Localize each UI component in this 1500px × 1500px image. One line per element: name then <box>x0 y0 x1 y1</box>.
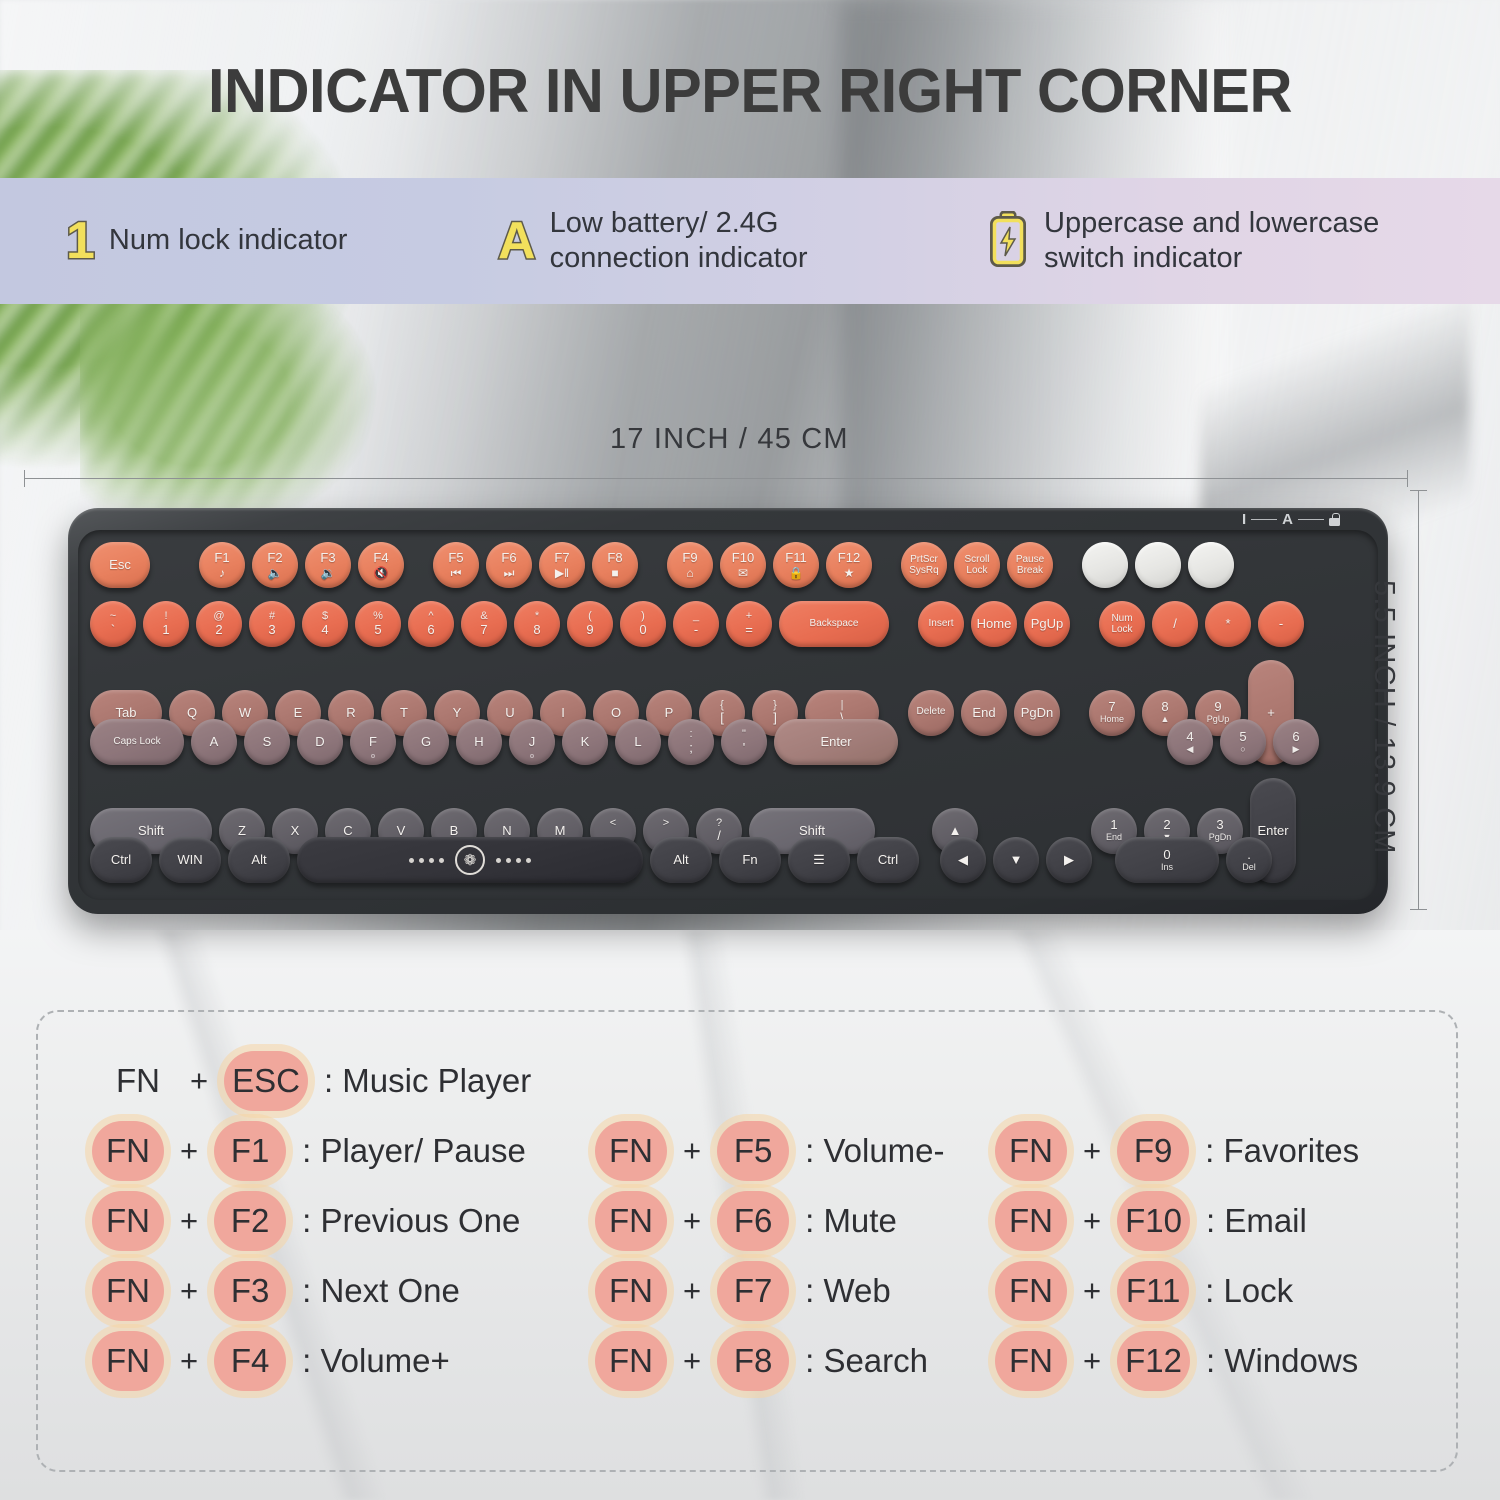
menu-icon[interactable]: ☰ <box>788 837 850 883</box>
indicator-label-caps-line2: switch indicator <box>1044 242 1242 274</box>
battery-bolt-icon <box>988 211 1028 272</box>
numeral-one-glyph: 1 <box>66 215 95 267</box>
keyboard-row-home: Caps LockASDFGHJKL:;"'Enter4◀5○6▶ <box>90 719 1326 765</box>
fn-shortcut-row: FN+F9: Favorites <box>993 1116 1413 1186</box>
spacebar-dots-left <box>409 858 444 863</box>
shortcut-key-badge: F2 <box>214 1191 286 1251</box>
key-label: F1 <box>214 551 229 565</box>
key-ctrl[interactable]: Ctrl <box>857 837 919 883</box>
key-label: ScrollLock <box>964 554 989 576</box>
fn-shortcut-row: FN+F6: Mute <box>593 1186 993 1256</box>
key-f7[interactable]: F7▶‖ <box>539 542 585 588</box>
key-label: 4 <box>1186 730 1193 744</box>
key-label: 0 <box>1163 848 1170 862</box>
indicator-item-battery: A Low battery/ 2.4G connection indicator <box>498 206 978 277</box>
key-function-icon: ■ <box>611 567 618 579</box>
key-label: Alt <box>251 853 266 867</box>
key-label: F4 <box>373 551 388 565</box>
key-label: V <box>397 824 406 838</box>
key-[interactable]: ▶ <box>1046 837 1092 883</box>
dimension-width-label: 17 INCH / 45 CM <box>610 423 849 456</box>
shortcut-description: : Player/ Pause <box>302 1132 526 1170</box>
plus-sign: + <box>180 1203 198 1239</box>
key-label: WIN <box>177 853 202 867</box>
plus-sign: + <box>180 1273 198 1309</box>
fn-key-badge: FN <box>92 1261 164 1321</box>
indicator-label-caps-line1: Uppercase and lowercase <box>1044 207 1379 239</box>
fn-shortcut-legend-panel: FN + ESC : Music Player FN+F1: Player/ P… <box>36 1010 1458 1472</box>
fn-shortcut-row: FN+F2: Previous One <box>90 1186 593 1256</box>
key-[interactable]: += <box>726 601 772 647</box>
shortcut-key-badge: F7 <box>717 1261 789 1321</box>
key-label: B <box>450 824 459 838</box>
key-pause[interactable]: PauseBreak <box>1007 542 1053 588</box>
key-label: 1 <box>162 623 169 637</box>
key-shift-legend: $ <box>322 611 328 623</box>
key-label: W <box>239 706 251 720</box>
key-shift-legend: # <box>269 611 275 623</box>
key-[interactable]: "' <box>721 719 767 765</box>
key-shift-legend: : <box>689 729 692 741</box>
key-f9[interactable]: F9⌂ <box>667 542 713 588</box>
key-label: PgDn <box>1021 706 1054 720</box>
plus-sign: + <box>190 1063 208 1099</box>
key-a[interactable]: A <box>191 719 237 765</box>
key-spacebar[interactable]: ❁ <box>297 837 643 883</box>
key-g[interactable]: G <box>403 719 449 765</box>
keyboard-row-modifiers: CtrlWINAlt❁AltFn☰Ctrl◀▼▶0Ins.Del <box>90 837 1279 883</box>
key-label: Shift <box>138 824 164 838</box>
key-label: N <box>502 824 511 838</box>
fn-key-badge: FN <box>92 1191 164 1251</box>
fn-key-badge: FN <box>595 1121 667 1181</box>
shortcut-description: : Email <box>1206 1202 1307 1240</box>
fn-key-badge: FN <box>102 1051 174 1111</box>
shortcut-key-badge: F12 <box>1117 1331 1190 1391</box>
key-4[interactable]: $4 <box>302 601 348 647</box>
key-function-icon: ✉ <box>738 567 748 579</box>
key-function-icon: 🔇 <box>374 567 389 579</box>
key-d[interactable]: D <box>297 719 343 765</box>
key-label: ☰ <box>813 853 825 867</box>
letter-a-glyph: A <box>498 215 536 267</box>
key-label: Home <box>977 617 1012 631</box>
fn-shortcut-row-esc: FN + ESC : Music Player <box>100 1046 531 1116</box>
shortcut-key-badge: F1 <box>214 1121 286 1181</box>
key-shift-legend: | <box>841 700 844 712</box>
key-h[interactable]: H <box>456 719 502 765</box>
key-label: E <box>294 706 303 720</box>
key-label: PgUp <box>1031 617 1064 631</box>
key-[interactable]: ▼ <box>993 837 1039 883</box>
key-shift-legend: + <box>746 611 752 623</box>
indicator-item-caps: Uppercase and lowercase switch indicator <box>988 206 1379 277</box>
key-5[interactable]: 5○ <box>1220 719 1266 765</box>
key-shift-legend: ~ <box>110 611 116 623</box>
key-label: X <box>291 824 300 838</box>
key-label: F7 <box>554 551 569 565</box>
key-[interactable]: / <box>1152 601 1198 647</box>
key-label: Shift <box>799 824 825 838</box>
key-7[interactable]: &7 <box>461 601 507 647</box>
led-mark-numlock: I <box>1242 512 1246 527</box>
key-label: ▼ <box>1010 853 1023 867</box>
key-scroll[interactable]: ScrollLock <box>954 542 1000 588</box>
key-f8[interactable]: F8■ <box>592 542 638 588</box>
key-shift-legend: * <box>535 611 539 623</box>
plus-sign: + <box>683 1273 701 1309</box>
fn-shortcut-row: FN+F8: Search <box>593 1326 993 1396</box>
fn-key-badge: FN <box>92 1121 164 1181</box>
key-label: Delete <box>917 707 946 718</box>
key-f3[interactable]: F3🔉 <box>305 542 351 588</box>
key-label: + <box>1267 706 1275 720</box>
spacebar-dots-right <box>496 858 531 863</box>
key-label: O <box>611 706 621 720</box>
key-2[interactable]: @2 <box>196 601 242 647</box>
key-label: 2 <box>1163 818 1170 832</box>
key-shift-legend: " <box>742 729 746 741</box>
key-label: 6 <box>427 623 434 637</box>
key-label: 2 <box>215 623 222 637</box>
key-label: 5 <box>1239 730 1246 744</box>
led-mark-connection: A <box>1282 512 1293 527</box>
key-secondary-label: Ins <box>1161 863 1173 872</box>
key-label: T <box>400 706 408 720</box>
key-f12[interactable]: F12★ <box>826 542 872 588</box>
key-label: - <box>1279 617 1283 631</box>
key-backspace[interactable]: Backspace <box>779 601 889 647</box>
key-pgup[interactable]: PgUp <box>1024 601 1070 647</box>
key-label: Enter <box>820 735 851 749</box>
key-[interactable]: .Del <box>1226 837 1272 883</box>
plus-sign: + <box>1083 1343 1101 1379</box>
key-label: Backspace <box>810 619 859 630</box>
brand-logo-icon: ❁ <box>455 845 485 875</box>
key-function-icon: ★ <box>844 567 855 579</box>
fn-shortcut-row: FN+F7: Web <box>593 1256 993 1326</box>
key-label: I <box>561 706 565 720</box>
key-0[interactable]: )0 <box>620 601 666 647</box>
key-label: J <box>529 735 536 749</box>
page-title: INDICATOR IN UPPER RIGHT CORNER <box>30 56 1470 127</box>
key-6[interactable]: ^6 <box>408 601 454 647</box>
key-shift-legend: } <box>773 700 777 712</box>
key-secondary-label: ○ <box>1240 745 1245 754</box>
key-k[interactable]: K <box>562 719 608 765</box>
shortcut-description: : Lock <box>1205 1272 1293 1310</box>
shortcut-description: : Music Player <box>324 1062 531 1100</box>
key-shift-legend: ) <box>641 611 645 623</box>
key-l[interactable]: L <box>615 719 661 765</box>
key-[interactable]: :; <box>668 719 714 765</box>
key-function-icon: ♪ <box>219 567 225 579</box>
shortcut-key-badge: F9 <box>1117 1121 1189 1181</box>
shortcut-key-badge: F8 <box>717 1331 789 1391</box>
key-[interactable]: - <box>1258 601 1304 647</box>
fn-key-badge: FN <box>995 1191 1067 1251</box>
key-label: 4 <box>321 623 328 637</box>
key-label: Q <box>187 706 197 720</box>
key-label: F11 <box>785 551 806 565</box>
key-shift-legend: ! <box>164 611 167 623</box>
key-label: M <box>555 824 566 838</box>
shortcut-description: : Windows <box>1206 1342 1358 1380</box>
key-f6[interactable]: F6⏭ <box>486 542 532 588</box>
key-label: F10 <box>732 551 754 565</box>
key-j[interactable]: J <box>509 719 555 765</box>
key-5[interactable]: %5 <box>355 601 401 647</box>
shortcut-description: : Search <box>805 1342 928 1380</box>
key-enter[interactable]: Enter <box>774 719 898 765</box>
fn-key-badge: FN <box>92 1331 164 1391</box>
shortcut-key-badge: F3 <box>214 1261 286 1321</box>
shortcut-key-badge: F6 <box>717 1191 789 1251</box>
key-shift-legend: ? <box>716 818 722 830</box>
key-[interactable]: * <box>1205 601 1251 647</box>
key-f2[interactable]: F2🔈 <box>252 542 298 588</box>
shortcut-key-badge: ESC <box>224 1051 308 1111</box>
key-label: G <box>421 735 431 749</box>
indicator-label-battery-line1: Low battery/ 2.4G <box>550 207 779 239</box>
shortcut-key-badge: F11 <box>1117 1261 1189 1321</box>
key-f[interactable]: F <box>350 719 396 765</box>
key-secondary-label: ◀ <box>1187 745 1194 754</box>
key-4[interactable]: 4◀ <box>1167 719 1213 765</box>
indicator-label-numlock: Num lock indicator <box>109 223 348 258</box>
key-label: F8 <box>607 551 622 565</box>
key-8[interactable]: *8 <box>514 601 560 647</box>
fn-shortcut-column-1: FN+F1: Player/ PauseFN+F2: Previous OneF… <box>38 1116 593 1396</box>
fn-shortcut-column-2: FN+F5: Volume-FN+F6: MuteFN+F7: WebFN+F8… <box>593 1116 993 1396</box>
plus-sign: + <box>1083 1273 1101 1309</box>
key-label: ▶ <box>1064 853 1074 867</box>
led-divider-1 <box>1251 519 1277 521</box>
key-label: 3 <box>1216 818 1223 832</box>
key-label: L <box>634 735 641 749</box>
key-label: 9 <box>1214 700 1221 714</box>
key-caps-lock[interactable]: Caps Lock <box>90 719 184 765</box>
key-label: Tab <box>116 706 137 720</box>
key-9[interactable]: (9 <box>567 601 613 647</box>
plus-sign: + <box>683 1133 701 1169</box>
key-label: D <box>315 735 324 749</box>
key-label: F5 <box>448 551 463 565</box>
key-esc[interactable]: Esc <box>90 542 150 588</box>
key-label: Caps Lock <box>113 737 160 748</box>
plus-sign: + <box>683 1203 701 1239</box>
key-shift-legend: { <box>720 700 724 712</box>
homing-bump <box>530 754 534 758</box>
key-label: U <box>505 706 514 720</box>
shortcut-key-badge: F10 <box>1117 1191 1190 1251</box>
key-label: F12 <box>838 551 860 565</box>
key-label: * <box>1225 617 1230 631</box>
key-shift-legend: ( <box>588 611 592 623</box>
key-[interactable]: _- <box>673 601 719 647</box>
key-alt[interactable]: Alt <box>650 837 712 883</box>
key-1[interactable]: !1 <box>143 601 189 647</box>
fn-key-badge: FN <box>595 1261 667 1321</box>
shortcut-description: : Mute <box>805 1202 897 1240</box>
key-label: Ctrl <box>111 853 131 867</box>
key-secondary-label: ▶ <box>1293 745 1300 754</box>
key-6[interactable]: 6▶ <box>1273 719 1319 765</box>
key-f11[interactable]: F11🔒 <box>773 542 819 588</box>
key-win[interactable]: WIN <box>159 837 221 883</box>
key-[interactable]: ~` <box>90 601 136 647</box>
fn-key-badge: FN <box>995 1261 1067 1321</box>
fn-shortcut-row: FN+F5: Volume- <box>593 1116 993 1186</box>
key-label: C <box>343 824 352 838</box>
key-fn[interactable]: Fn <box>719 837 781 883</box>
key-label: Ctrl <box>878 853 898 867</box>
key-label: ▲ <box>949 824 962 838</box>
fn-key-badge: FN <box>595 1191 667 1251</box>
keyboard-row-numbers: ~`!1@2#3$4%5^6&7*8(9)0_-+=BackspaceInser… <box>90 601 1311 647</box>
key-label: F3 <box>320 551 335 565</box>
key-label: F6 <box>501 551 516 565</box>
plus-sign: + <box>1083 1203 1101 1239</box>
plus-sign: + <box>1083 1133 1101 1169</box>
key-shift-legend: & <box>480 611 487 623</box>
shortcut-description: : Favorites <box>1205 1132 1359 1170</box>
key-label: F2 <box>267 551 282 565</box>
key-label: A <box>210 735 219 749</box>
led-indicator-key[interactable] <box>1135 542 1181 588</box>
key-label: Z <box>238 824 246 838</box>
key-0[interactable]: 0Ins <box>1115 837 1219 883</box>
homing-bump <box>371 754 375 758</box>
key-label: H <box>474 735 483 749</box>
key-shift-legend: % <box>373 611 383 623</box>
key-f10[interactable]: F10✉ <box>720 542 766 588</box>
fn-shortcut-row: FN+F1: Player/ Pause <box>90 1116 593 1186</box>
fn-key-badge: FN <box>995 1121 1067 1181</box>
fn-shortcut-row: FN+F3: Next One <box>90 1256 593 1326</box>
key-label: F <box>369 735 377 749</box>
fn-shortcut-row: FN+F4: Volume+ <box>90 1326 593 1396</box>
indicator-legend-bar: 1 Num lock indicator A Low battery/ 2.4G… <box>0 178 1500 304</box>
key-alt[interactable]: Alt <box>228 837 290 883</box>
key-label: PauseBreak <box>1016 554 1044 576</box>
key-label: 9 <box>586 623 593 637</box>
key-function-icon: 🔒 <box>789 567 804 579</box>
plus-sign: + <box>683 1343 701 1379</box>
key-label: - <box>694 623 698 637</box>
shortcut-description: : Volume- <box>805 1132 944 1170</box>
lock-icon <box>1329 513 1340 526</box>
shortcut-key-badge: F4 <box>214 1331 286 1391</box>
key-label: 5 <box>374 623 381 637</box>
fn-key-badge: FN <box>995 1331 1067 1391</box>
key-function-icon: ⏮ <box>451 567 462 579</box>
key-label: P <box>665 706 674 720</box>
key-shift-legend: ^ <box>428 611 433 623</box>
key-num[interactable]: NumLock <box>1099 601 1145 647</box>
led-indicator-key[interactable] <box>1188 542 1234 588</box>
key-label: 7 <box>1108 700 1115 714</box>
key-ctrl[interactable]: Ctrl <box>90 837 152 883</box>
key-label: Insert <box>928 619 953 630</box>
key-shift-legend: < <box>610 818 616 830</box>
indicator-item-numlock: 1 Num lock indicator <box>66 215 486 267</box>
key-label: K <box>581 735 590 749</box>
fn-shortcut-row: FN+F10: Email <box>993 1186 1413 1256</box>
key-label: ` <box>111 623 115 637</box>
key-f5[interactable]: F5⏮ <box>433 542 479 588</box>
shortcut-key-badge: F5 <box>717 1121 789 1181</box>
key-prtscr[interactable]: PrtScrSysRq <box>901 542 947 588</box>
fn-shortcut-row: FN+F11: Lock <box>993 1256 1413 1326</box>
plus-sign: + <box>180 1343 198 1379</box>
key-label: NumLock <box>1111 613 1132 635</box>
key-s[interactable]: S <box>244 719 290 765</box>
key-function-icon: ⌂ <box>686 567 693 579</box>
keyboard-body: I A EscF1♪F2🔈F3🔉F4🔇F5⏮F6⏭F7▶‖F8■F9⌂F10✉F… <box>68 508 1388 914</box>
key-function-icon: ⏭ <box>504 567 515 579</box>
key-label: / <box>1173 617 1177 631</box>
key-label: 7 <box>480 623 487 637</box>
key-label: 8 <box>533 623 540 637</box>
key-function-icon: ▶‖ <box>555 567 569 579</box>
dimension-width-line <box>24 478 1408 479</box>
indicator-label-battery-line2: connection indicator <box>550 242 808 274</box>
key-3[interactable]: #3 <box>249 601 295 647</box>
key-label: 0 <box>639 623 646 637</box>
key-label: = <box>745 623 753 637</box>
key-label: End <box>972 706 995 720</box>
key-label: ' <box>743 741 745 755</box>
led-divider-2 <box>1298 519 1324 521</box>
shortcut-description: : Next One <box>302 1272 460 1310</box>
key-label: 6 <box>1292 730 1299 744</box>
key-label: Fn <box>742 853 757 867</box>
dimension-height-label: 5.5 INCH / 13.9 CM <box>1367 580 1400 855</box>
key-label: ◀ <box>958 853 968 867</box>
shortcut-description: : Previous One <box>302 1202 520 1240</box>
key-label: Esc <box>109 558 131 572</box>
key-shift-legend: _ <box>693 611 699 623</box>
key-label: S <box>263 735 272 749</box>
keyboard-row-function: EscF1♪F2🔈F3🔉F4🔇F5⏮F6⏭F7▶‖F8■F9⌂F10✉F11🔒F… <box>90 542 1241 588</box>
key-[interactable]: ◀ <box>940 837 986 883</box>
led-indicator-key[interactable] <box>1082 542 1128 588</box>
key-label: 3 <box>268 623 275 637</box>
key-function-icon: 🔈 <box>268 567 283 579</box>
shortcut-description: : Web <box>805 1272 891 1310</box>
fn-shortcut-column-3: FN+F9: FavoritesFN+F10: EmailFN+F11: Loc… <box>993 1116 1413 1396</box>
key-shift-legend: @ <box>213 611 224 623</box>
key-home[interactable]: Home <box>971 601 1017 647</box>
key-f4[interactable]: F4🔇 <box>358 542 404 588</box>
key-label: PrtScrSysRq <box>909 554 938 576</box>
key-f1[interactable]: F1♪ <box>199 542 245 588</box>
shortcut-description: : Volume+ <box>302 1342 450 1380</box>
fn-shortcut-row: FN+F12: Windows <box>993 1326 1413 1396</box>
key-function-icon: 🔉 <box>321 567 336 579</box>
plus-sign: + <box>180 1133 198 1169</box>
key-label: F9 <box>682 551 697 565</box>
key-label: ; <box>689 741 693 755</box>
key-shift-legend: > <box>663 818 669 830</box>
led-indicator-marks: I A <box>1242 512 1340 527</box>
indicator-label-battery: Low battery/ 2.4G connection indicator <box>550 206 808 277</box>
fn-key-badge: FN <box>595 1331 667 1391</box>
dimension-height-line <box>1418 490 1419 910</box>
key-label: Enter <box>1257 824 1288 838</box>
key-insert[interactable]: Insert <box>918 601 964 647</box>
